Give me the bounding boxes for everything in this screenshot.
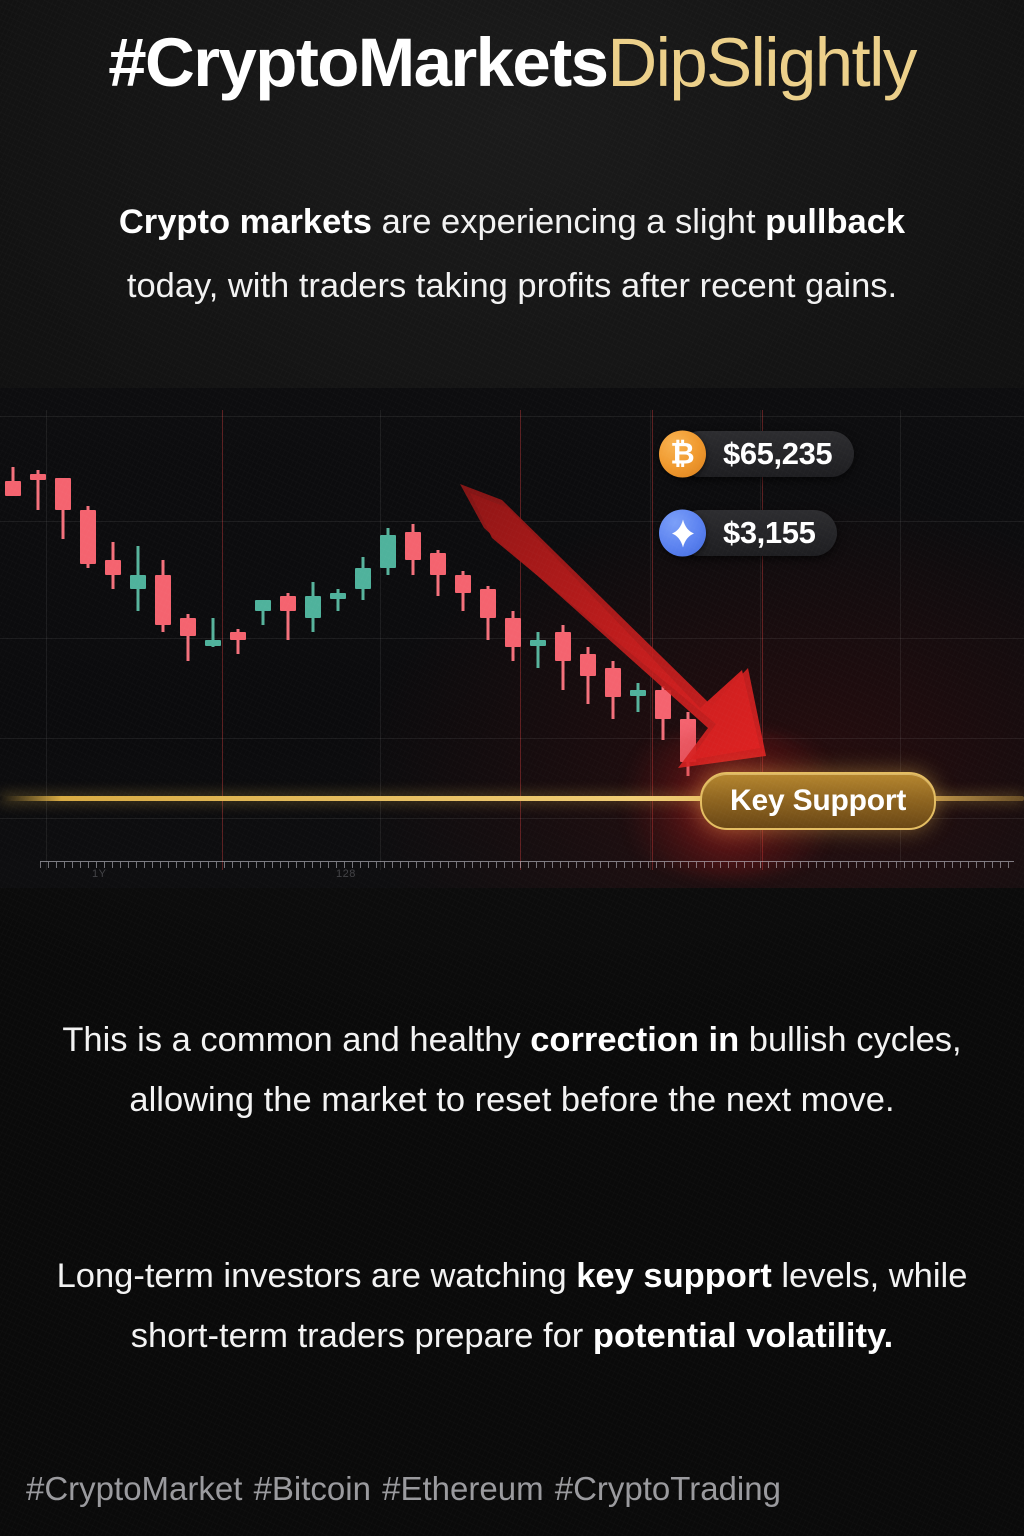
ethereum-price-value: $3,155 (723, 515, 815, 551)
axis-tick-label: 1Y (92, 868, 106, 880)
emphasis-text: Crypto markets (119, 203, 372, 241)
emphasis-text: potential volatility. (593, 1317, 893, 1355)
plain-text: Long-term investors are watching (57, 1257, 577, 1295)
key-support-badge[interactable]: Key Support (700, 772, 936, 830)
plain-text: This is a common and healthy (62, 1021, 530, 1059)
hashtag-line-1[interactable]: #CryptoMarket #Bitcoin #Ethereum #Crypto… (26, 1458, 986, 1519)
ethereum-icon (659, 510, 706, 557)
page-title-primary: #CryptoMarkets (108, 24, 607, 101)
bitcoin-price-value: $65,235 (723, 436, 832, 472)
poster-canvas: #CryptoMarketsDipSlightly Crypto markets… (0, 0, 1024, 1536)
page-title-secondary: DipSlightly (607, 24, 915, 101)
axis-tick-label: 128 (336, 868, 356, 880)
body-paragraph-1: This is a common and healthy correction … (50, 1010, 974, 1131)
body-paragraph-2: Long-term investors are watching key sup… (50, 1246, 974, 1367)
emphasis-text: correction in (530, 1021, 739, 1059)
plain-text: today, with traders taking profits after… (127, 267, 897, 305)
intro-paragraph: Crypto markets are experiencing a slight… (72, 190, 952, 320)
hashtag-block: #CryptoMarket #Bitcoin #Ethereum #Crypto… (26, 1458, 986, 1536)
plain-text: are experiencing a slight (372, 203, 765, 241)
bitcoin-icon: ₿ (659, 431, 706, 478)
candlestick-chart: 1Y 128 ₿ $65,235 $3,155 Key Support (0, 388, 1024, 888)
ethereum-price-badge[interactable]: $3,155 (677, 510, 837, 556)
emphasis-text: key support (576, 1257, 772, 1295)
key-support-label: Key Support (730, 784, 906, 818)
hashtag-line-2[interactable]: #MarketAnalysis (26, 1519, 986, 1536)
chart-x-axis: 1Y 128 (40, 861, 1014, 874)
bitcoin-price-badge[interactable]: ₿ $65,235 (677, 431, 854, 477)
emphasis-text: pullback (765, 203, 905, 241)
page-title: #CryptoMarketsDipSlightly (0, 26, 1024, 101)
